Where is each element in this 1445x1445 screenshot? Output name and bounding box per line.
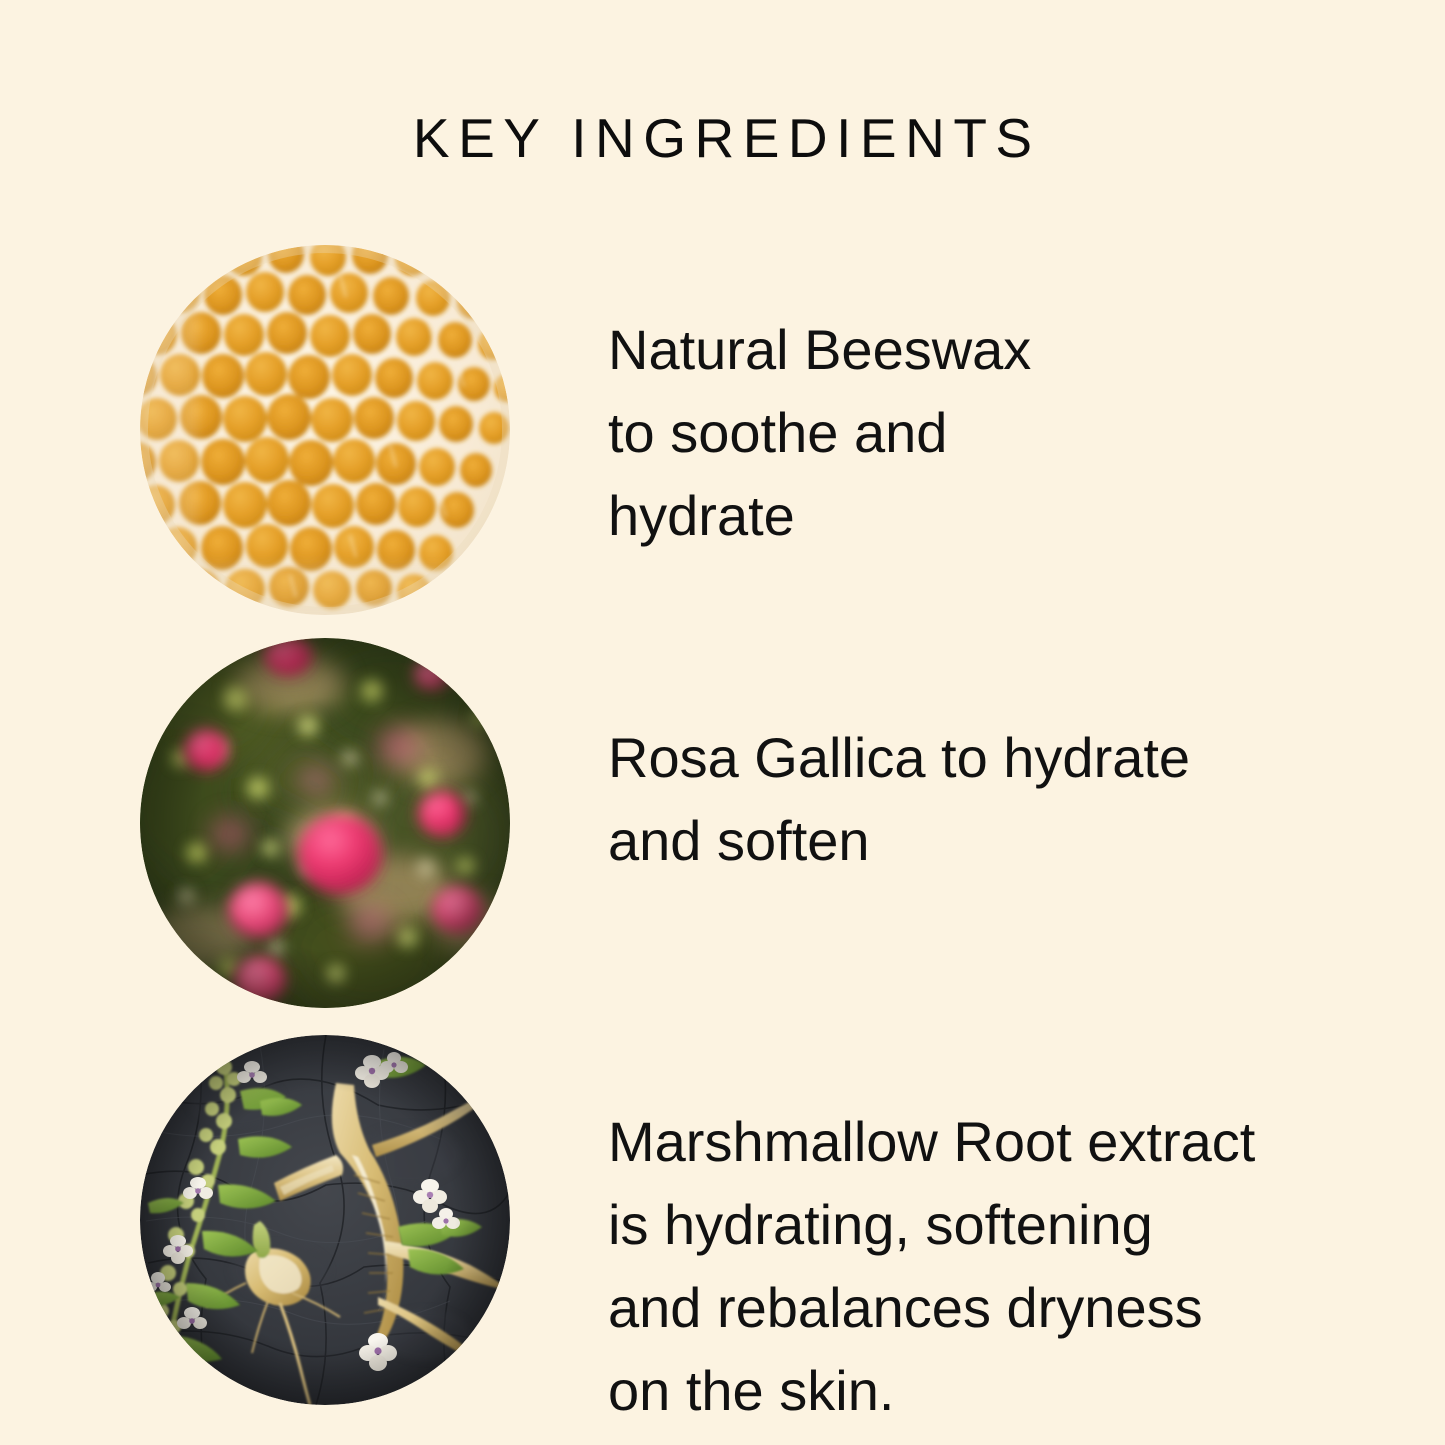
ingredient-description-rosa-gallica: Rosa Gallica to hydrate and soften [608,716,1398,882]
ingredient-description-beeswax: Natural Beeswax to soothe and hydrate [608,308,1398,557]
rose-bush-photo [140,638,510,1008]
page-title: KEY INGREDIENTS [0,108,1445,169]
marshmallow-root-photo [140,1035,510,1405]
honeycomb-photo [140,245,510,615]
ingredient-description-marshmallow-root: Marshmallow Root extract is hydrating, s… [608,1100,1398,1432]
key-ingredients-panel: KEY INGREDIENTS [0,0,1445,1445]
